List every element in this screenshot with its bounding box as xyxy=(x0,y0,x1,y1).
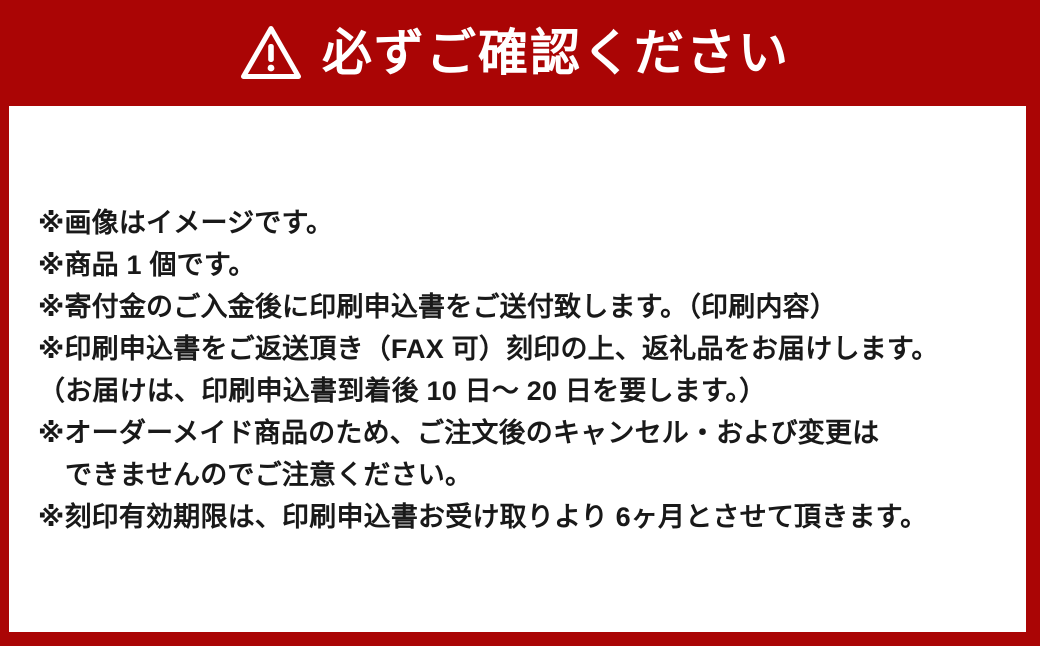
notice-card: 必ずご確認ください ※画像はイメージです。 ※商品 1 個です。 ※寄付金のご入… xyxy=(0,0,1040,646)
warning-triangle-icon xyxy=(238,23,304,83)
notice-line: （お届けは、印刷申込書到着後 10 日〜 20 日を要します。） xyxy=(38,370,1026,412)
notice-line: ※商品 1 個です。 xyxy=(38,244,1026,286)
notice-line: ※寄付金のご入金後に印刷申込書をご送付致します。（印刷内容） xyxy=(38,286,1026,328)
notice-line: ※刻印有効期限は、印刷申込書お受け取りより 6ヶ月とさせて頂きます。 xyxy=(38,496,1026,538)
notice-line: できませんのでご注意ください。 xyxy=(38,454,1026,496)
notice-header-banner: 必ずご確認ください xyxy=(0,0,1040,106)
page-title: 必ずご確認ください xyxy=(322,28,790,78)
notice-body: ※画像はイメージです。 ※商品 1 個です。 ※寄付金のご入金後に印刷申込書をご… xyxy=(9,106,1026,632)
notice-line: ※印刷申込書をご返送頂き（FAX 可）刻印の上、返礼品をお届けします。 xyxy=(38,328,1026,370)
header-inner: 必ずご確認ください xyxy=(238,23,790,83)
notice-line: ※画像はイメージです。 xyxy=(38,202,1026,244)
notice-line: ※オーダーメイド商品のため、ご注文後のキャンセル・および変更は xyxy=(38,412,1026,454)
